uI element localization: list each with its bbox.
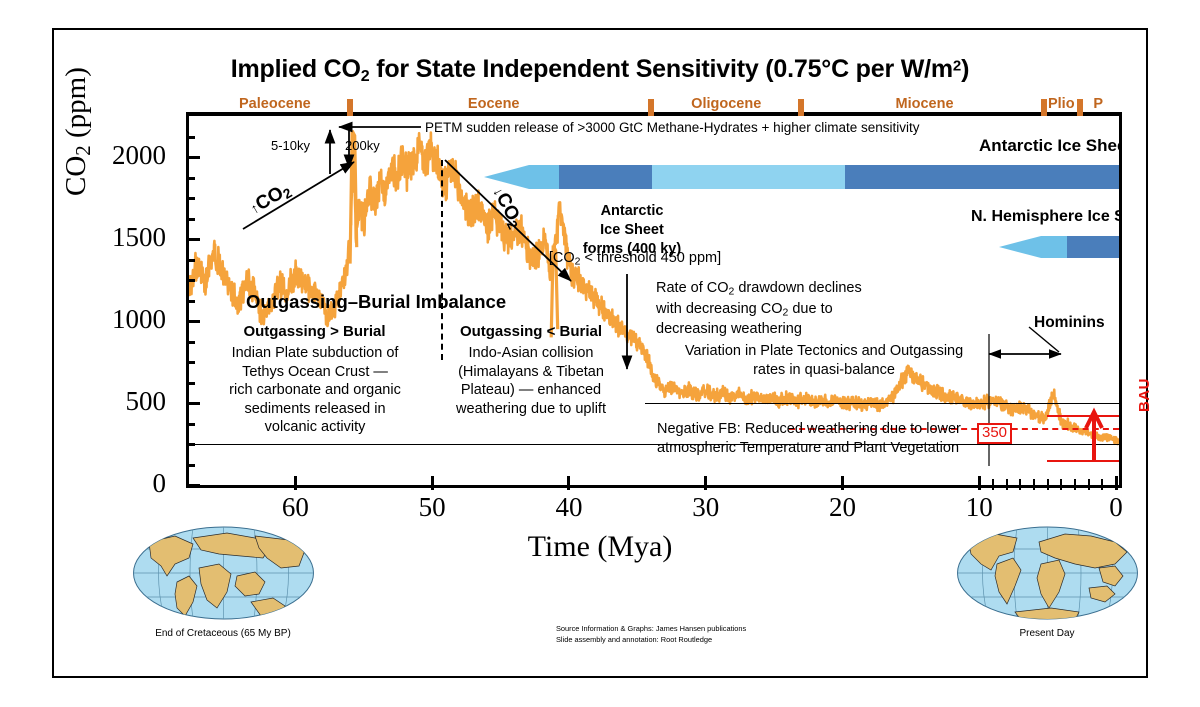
y-tick-label: 1000 [0,304,166,335]
y-tick [186,320,200,323]
title-pre: Implied CO [231,55,361,83]
epoch-divider-dashed [441,160,443,360]
x-minor-tick [1033,479,1035,490]
x-minor-tick [1019,479,1021,490]
reference-line-250 [189,444,1119,445]
title-sup: 2 [953,57,961,74]
x-tick-label: 30 [692,492,719,523]
x-tick [704,476,707,490]
epoch-label-miocene: Miocene [896,96,954,112]
y-tick [186,238,200,241]
reference-line-500 [645,403,1119,404]
y-minor-tick [186,259,195,262]
y-minor-tick [186,464,195,467]
globe-present [955,524,1140,622]
hominins-label: Hominins [1034,314,1105,332]
globe-past [131,524,316,622]
x-tick [1115,476,1118,490]
x-minor-tick [1088,479,1090,490]
marker-350-badge: 350 [977,423,1012,444]
bau-label: BAU [1136,378,1153,412]
y-tick-label: 500 [0,386,166,417]
y-tick-label: 2000 [0,140,166,171]
epoch-label-eocene: Eocene [468,96,520,112]
outgassing-greater-title: Outgassing > Burial [207,323,422,341]
y-minor-tick [186,382,195,385]
y-minor-tick [186,279,195,282]
epoch-label-paleocene: Paleocene [239,96,311,112]
x-minor-tick [1047,479,1049,490]
y-minor-tick [186,361,195,364]
x-tick-label: 10 [966,492,993,523]
y-tick-label: 1500 [0,222,166,253]
x-minor-tick [992,479,994,490]
epoch-label-p: P [1093,96,1103,112]
y-minor-tick [186,423,195,426]
y-minor-tick [186,443,195,446]
antarctic-ice-sheet-bar [484,163,1119,191]
y-tick-label: 0 [0,468,166,499]
epoch-label-oligocene: Oligocene [691,96,761,112]
plot-inner: PETM sudden release of >3000 GtC Methane… [189,116,1119,485]
x-tick [841,476,844,490]
ky-200-label: 200ky [345,138,380,153]
x-tick [294,476,297,490]
x-minor-tick [1006,479,1008,490]
y-tick [186,402,200,405]
y-minor-tick [186,218,195,221]
antarctic-ice-sheet-label: Antarctic Ice Sheet [979,136,1119,156]
y-minor-tick [186,341,195,344]
outgassing-burial-header: Outgassing–Burial Imbalance [246,291,506,313]
y-minor-tick [186,197,195,200]
nh-ice-sheets-label: N. Hemisphere Ice Sheets [971,208,1119,227]
page-root: Implied CO2 for State Independent Sensit… [0,0,1200,707]
x-tick-label: 20 [829,492,856,523]
globe-present-caption: Present Day [1019,628,1074,639]
x-tick [567,476,570,490]
outgassing-less-body: Indo-Asian collision (Himalayans & Tibet… [427,344,635,418]
epoch-label-plio: Plio [1048,96,1075,112]
y-tick [186,156,200,159]
x-minor-tick [1101,479,1103,490]
page-title: Implied CO2 for State Independent Sensit… [150,55,1050,86]
y-minor-tick [186,136,195,139]
outgassing-greater-body: Indian Plate subduction of Tethys Ocean … [199,344,431,437]
x-tick-label: 0 [1109,492,1123,523]
title-post: ) [961,55,969,83]
y-tick [186,484,200,487]
petm-annotation: PETM sudden release of >3000 GtC Methane… [425,120,920,136]
credit-text: Source Information & Graphs: James Hanse… [556,624,746,645]
nh-ice-sheets-bar [999,234,1119,260]
x-tick-label: 40 [555,492,582,523]
drawdown-annotation: Rate of CO2 drawdown declineswith decrea… [656,279,862,340]
ky-5-10-label: 5-10ky [271,138,310,153]
variation-annotation: Variation in Plate Tectonics and Outgass… [649,342,999,380]
x-tick [978,476,981,490]
ais-threshold-annotation: [CO2 < threshold 450 ppm] [535,250,735,269]
y-minor-tick [186,300,195,303]
y-minor-tick [186,177,195,180]
plot-area: PETM sudden release of >3000 GtC Methane… [186,116,1122,488]
outgassing-less-title: Outgassing < Burial [431,323,631,341]
x-minor-tick [1074,479,1076,490]
title-mid: for State Independent Sensitivity (0.75°… [369,55,952,83]
x-tick [431,476,434,490]
x-tick-label: 60 [282,492,309,523]
y-axis-title: CO2 (ppm) [60,67,96,196]
globe-past-caption: End of Cretaceous (65 My BP) [155,628,291,639]
x-tick-label: 50 [419,492,446,523]
negative-fb-annotation: Negative FB: Reduced weathering due to l… [657,420,961,458]
x-minor-tick [1060,479,1062,490]
